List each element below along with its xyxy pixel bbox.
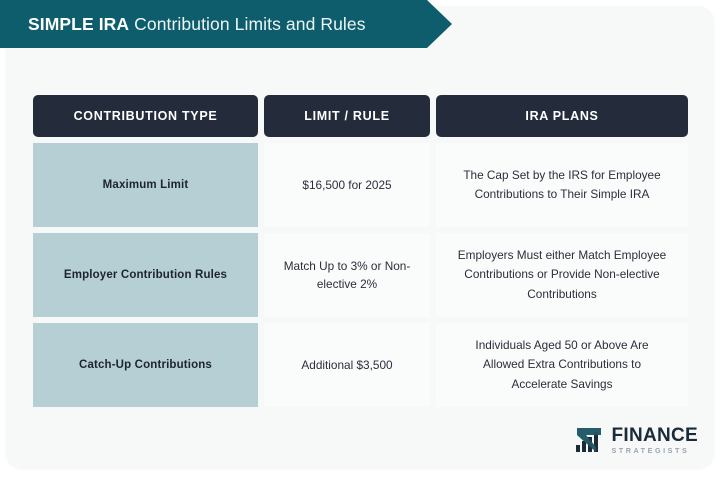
finance-strategists-bar-chart-arrow-icon xyxy=(574,426,604,454)
cell-ira-plans: Individuals Aged 50 or Above Are Allowed… xyxy=(436,323,688,407)
column-header-limit-rule: LIMIT / RULE xyxy=(264,95,430,137)
cell-contribution-type: Catch-Up Contributions xyxy=(33,323,258,407)
table-header-row: CONTRIBUTION TYPE LIMIT / RULE IRA PLANS xyxy=(33,95,688,137)
column-header-contribution-type: CONTRIBUTION TYPE xyxy=(33,95,258,137)
page-title-strong: SIMPLE IRA xyxy=(28,14,129,34)
cell-limit-rule: Additional $3,500 xyxy=(264,323,430,407)
contribution-limits-table: CONTRIBUTION TYPE LIMIT / RULE IRA PLANS… xyxy=(33,95,688,413)
table-row: Catch-Up Contributions Additional $3,500… xyxy=(33,323,688,407)
cell-ira-plans: The Cap Set by the IRS for Employee Cont… xyxy=(436,143,688,227)
cell-contribution-type: Maximum Limit xyxy=(33,143,258,227)
title-banner: SIMPLE IRA Contribution Limits and Rules xyxy=(0,0,452,48)
page-title-rest: Contribution Limits and Rules xyxy=(129,14,365,34)
cell-limit-rule: Match Up to 3% or Non-elective 2% xyxy=(264,233,430,317)
page-title: SIMPLE IRA Contribution Limits and Rules xyxy=(28,14,366,35)
cell-ira-plans: Employers Must either Match Employee Con… xyxy=(436,233,688,317)
cell-limit-rule: $16,500 for 2025 xyxy=(264,143,430,227)
logo-subtitle: STRATEGISTS xyxy=(611,447,698,454)
infographic-root: SIMPLE IRA Contribution Limits and Rules… xyxy=(0,0,720,478)
cell-contribution-type: Employer Contribution Rules xyxy=(33,233,258,317)
logo-name: FINANCE xyxy=(611,426,698,445)
logo-wordmark: FINANCE STRATEGISTS xyxy=(611,426,698,454)
table-row: Maximum Limit $16,500 for 2025 The Cap S… xyxy=(33,143,688,227)
brand-logo: FINANCE STRATEGISTS xyxy=(574,426,698,454)
column-header-ira-plans: IRA PLANS xyxy=(436,95,688,137)
table-row: Employer Contribution Rules Match Up to … xyxy=(33,233,688,317)
